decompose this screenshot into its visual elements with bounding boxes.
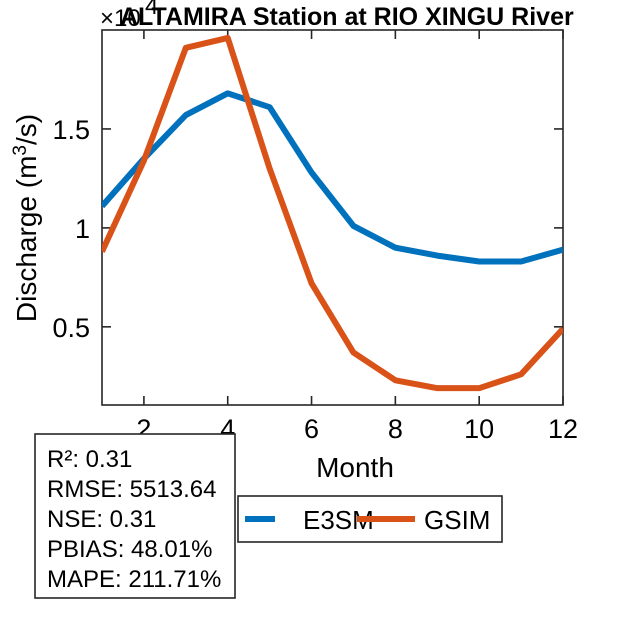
x-tick-label: 12 xyxy=(548,414,578,444)
statistics-line: PBIAS: 48.01% xyxy=(47,536,212,563)
x-axis-title: Month xyxy=(316,452,394,483)
y-tick-label: 0.5 xyxy=(52,313,90,343)
statistics-line: RMSE: 5513.64 xyxy=(47,476,216,503)
statistics-box: R²: 0.31RMSE: 5513.64NSE: 0.31PBIAS: 48.… xyxy=(35,434,235,598)
y-axis-title-superscript: 3 xyxy=(10,145,31,156)
y-tick-label: 1.5 xyxy=(52,115,90,145)
chart-title: ALTAMIRA Station at RIO XINGU River xyxy=(120,3,574,31)
legend[interactable]: E3SMGSIM xyxy=(238,496,502,542)
statistics-line: NSE: 0.31 xyxy=(47,506,156,533)
x-tick-label: 8 xyxy=(388,414,403,444)
y-axis-title: Discharge (m3/s) xyxy=(10,114,42,322)
y-tick-label: 1 xyxy=(75,214,90,244)
y-axis-title-main: Discharge (m xyxy=(11,156,42,322)
discharge-line-chart: ×10 4ALTAMIRA Station at RIO XINGU River… xyxy=(0,0,625,625)
x-tick-label: 10 xyxy=(464,414,494,444)
statistics-line: R²: 0.31 xyxy=(47,446,132,473)
x-tick-label: 6 xyxy=(304,414,319,444)
legend-label-gsim[interactable]: GSIM xyxy=(424,505,490,535)
y-axis-title-tail: /s) xyxy=(11,114,42,145)
statistics-line: MAPE: 211.71% xyxy=(47,566,221,593)
svg-text:Discharge (m3/s): Discharge (m3/s) xyxy=(10,114,42,322)
